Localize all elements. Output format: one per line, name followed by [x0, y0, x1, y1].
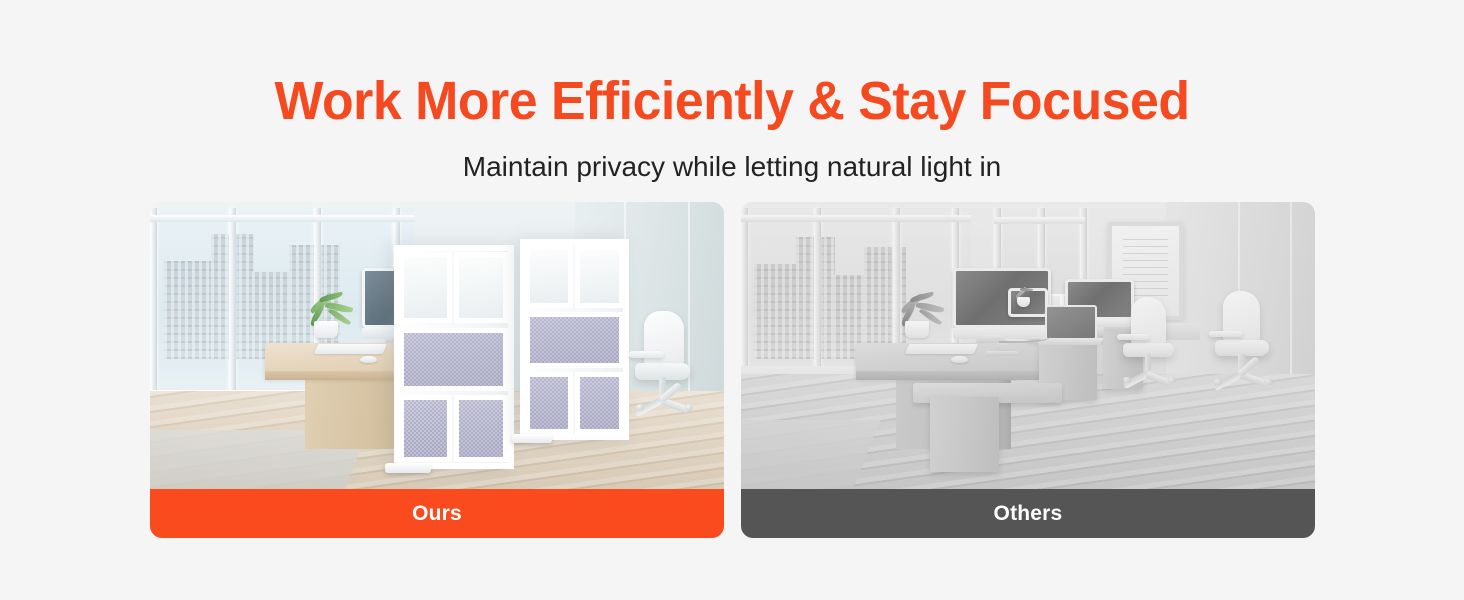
divider-translucent-panel [525, 245, 573, 307]
divider-foot [512, 434, 552, 443]
room-divider-back [520, 239, 629, 440]
divider-fabric-panel [399, 328, 509, 391]
divider-fabric-panel [454, 395, 508, 462]
monitor-foot [986, 351, 1019, 356]
promo-banner: Work More Efficiently & Stay Focused Mai… [0, 0, 1464, 600]
keyboard [905, 344, 978, 354]
window-mullion [150, 208, 157, 397]
laptop-screen [1045, 305, 1097, 339]
divider-translucent-panel [575, 245, 624, 307]
city-skyline [161, 223, 356, 359]
divider-translucent-panel [399, 252, 452, 324]
card-label-others: Others [741, 489, 1315, 538]
window-mullion [229, 208, 236, 397]
ours-scene-image [150, 202, 724, 489]
comparison-cards: Ours [150, 202, 1316, 538]
divider-foot [385, 463, 431, 473]
comparison-card-ours[interactable]: Ours [150, 202, 724, 538]
window-transom [741, 215, 971, 222]
divider-fabric-panel [525, 372, 573, 434]
laptop-base [1037, 338, 1104, 345]
wall-seam [1290, 202, 1292, 403]
page-title: Work More Efficiently & Stay Focused [29, 70, 1434, 132]
divider-fabric-panel [399, 395, 452, 462]
plant-pot [905, 321, 929, 338]
room-divider-front [394, 245, 515, 469]
foreground-pedestal [930, 397, 999, 472]
divider-fabric-panel [575, 372, 624, 434]
card-label-ours: Ours [150, 489, 724, 538]
page-subtitle: Maintain privacy while letting natural l… [0, 148, 1464, 186]
mouse [951, 356, 968, 363]
divider-translucent-panel [454, 252, 508, 324]
plant-pot [314, 321, 338, 338]
window-transom [150, 215, 414, 222]
window-transom [994, 217, 1086, 224]
comparison-card-others[interactable]: Others [741, 202, 1315, 538]
mouse [360, 356, 377, 363]
keyboard [314, 344, 387, 354]
others-scene-image [741, 202, 1315, 489]
divider-fabric-panel [525, 312, 624, 368]
